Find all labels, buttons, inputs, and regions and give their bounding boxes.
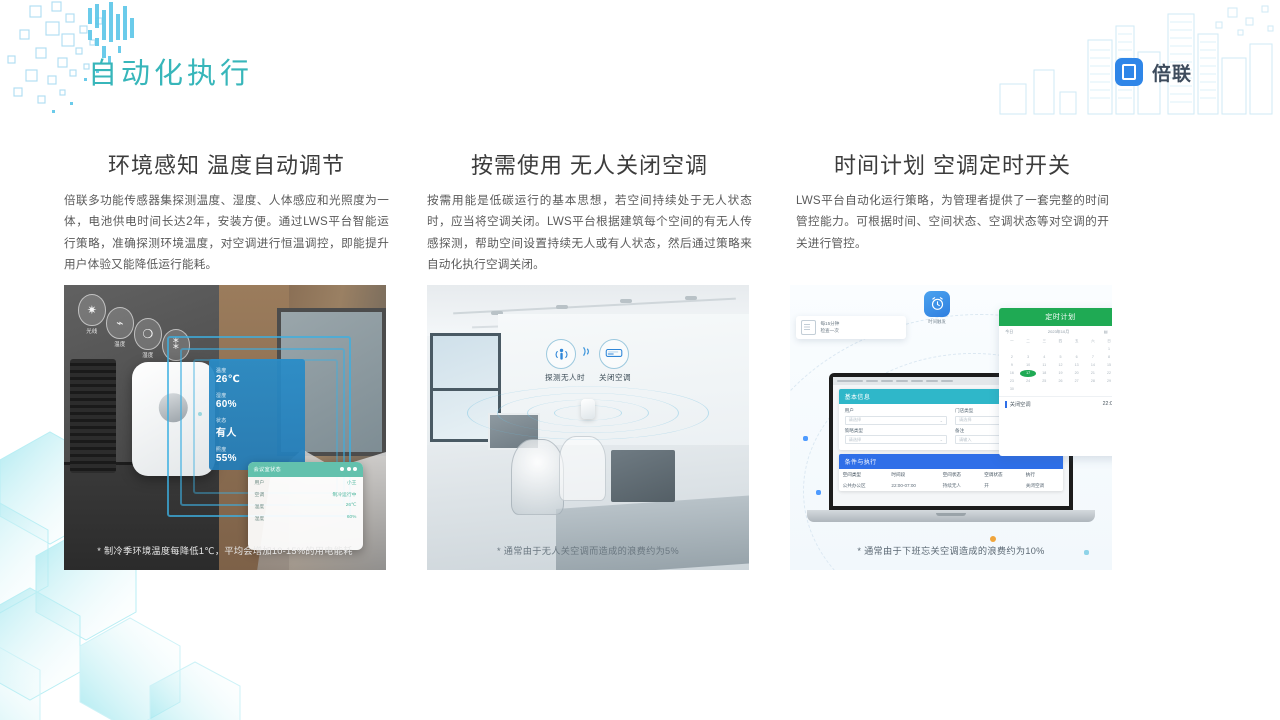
weekday-label: 三 — [1037, 338, 1052, 345]
column-title: 按需使用 无人关闭空调 — [427, 155, 752, 177]
calendar-day[interactable]: 15 — [1101, 362, 1112, 369]
humidity-sensor-icon: ❍ 湿度 — [133, 318, 163, 352]
entry-label: 关闭空调 — [1010, 401, 1031, 408]
alarm-clock-icon — [924, 291, 950, 317]
calendar-day[interactable]: 20 — [1069, 370, 1084, 377]
column-body: LWS平台自动化运行策略，为管理者提供了一套完整的时间管控能力。可根据时间、空间… — [790, 190, 1115, 254]
calendar-day[interactable]: 19 — [1053, 370, 1068, 377]
column-body: 按需用能是低碳运行的基本思想，若空间持续处于无人状态时，应当将空调关闭。LWS平… — [427, 190, 752, 276]
column-title: 时间计划 空调定时开关 — [790, 155, 1115, 177]
photo-caption: * 通常由于下班忘关空调造成的浪费约为10% — [790, 543, 1112, 557]
time-trigger-label: 时间触发 — [922, 319, 952, 325]
brand-name: 倍联 — [1152, 59, 1192, 86]
calendar-day[interactable]: 3 — [1020, 354, 1035, 361]
column-time-schedule: 时间计划 空调定时开关 LWS平台自动化运行策略，为管理者提供了一套完整的时间管… — [790, 155, 1115, 254]
calendar-day[interactable]: 25 — [1037, 378, 1052, 385]
document-search-icon — [801, 320, 816, 335]
calendar-day[interactable]: 6 — [1069, 354, 1084, 361]
calendar-day[interactable]: 26 — [1053, 378, 1068, 385]
weekday-label: 一 — [1004, 338, 1019, 345]
column-body: 倍联多功能传感器集探测温度、湿度、人体感应和光照度为一体，电池供电时间长达2年，… — [64, 190, 389, 276]
room-status-title: 会议室状态 — [254, 466, 281, 473]
decor-dot — [816, 490, 821, 495]
condition-table-title: 条件与执行 — [839, 454, 1064, 469]
field-strategy-type: 策略类型 请选择 ⌄ — [845, 428, 947, 445]
calendar-nav: 今日 2023年10月 ▤ ＋ — [999, 326, 1112, 338]
chevron-down-icon: ⌄ — [940, 418, 943, 423]
calendar-grid: 一 二 三 四 五 六 日 1 2 — [999, 338, 1112, 396]
calendar-day[interactable] — [1085, 346, 1100, 353]
check-interval-tooltip: 每15分钟 检查一次 — [796, 316, 905, 339]
weekday-label: 二 — [1020, 338, 1035, 345]
schedule-panel: 定时计划 今日 2023年10月 ▤ ＋ 一 二 三 四 — [999, 308, 1112, 456]
decor-dot — [803, 436, 808, 441]
photo-caption: * 通常由于无人关空调而造成的浪费约为5% — [427, 543, 749, 557]
time-trigger-badge: 时间触发 — [922, 291, 952, 325]
calendar-day[interactable]: 5 — [1053, 354, 1068, 361]
brand-logo: 倍联 — [1115, 58, 1192, 86]
calendar-day[interactable]: 10 — [1020, 362, 1035, 369]
calendar-day[interactable]: 8 — [1101, 354, 1112, 361]
calendar-day[interactable]: 11 — [1037, 362, 1052, 369]
calendar-day[interactable]: 14 — [1085, 362, 1100, 369]
user-select[interactable]: 请选择 ⌄ — [845, 416, 947, 425]
temperature-sensor-icon: ⌁ 温度 — [105, 307, 135, 341]
decor-dot — [990, 536, 996, 542]
window-mullion — [430, 388, 501, 391]
weekday-label: 日 — [1101, 338, 1112, 345]
calendar-today-button[interactable]: 今日 — [1005, 329, 1013, 335]
laptop-base — [807, 510, 1096, 522]
condition-table: 空间类型 时间段 空间状态 空调状态 执行 公共办公区 22:00-07:00 — [839, 469, 1064, 491]
calendar-day[interactable] — [1069, 346, 1084, 353]
signal-wave-icon — [581, 344, 594, 364]
window-dots-icon — [340, 467, 357, 471]
page-title: 自动化执行 — [88, 50, 253, 92]
hud-label-shutdown: 关闭空调 — [599, 372, 631, 383]
calendar-day[interactable]: 18 — [1037, 370, 1052, 377]
calendar-month-label: 2023年10月 — [1048, 329, 1069, 335]
track-lamp — [685, 296, 697, 300]
schedule-title: 定时计划 — [999, 308, 1112, 326]
room-status-header: 会议室状态 — [248, 462, 364, 477]
calendar-day[interactable]: 22 — [1101, 370, 1112, 377]
photo-card-sensor: ✷ 光线 ⌁ 温度 ❍ 湿度 ⁑ 移动侦测 — [64, 285, 386, 570]
weekday-label: 四 — [1053, 338, 1068, 345]
square-logo-icon — [1115, 58, 1143, 86]
wall-vent — [70, 359, 115, 473]
ceiling-presence-sensor — [581, 399, 595, 419]
field-user: 用户 请选择 ⌄ — [845, 408, 947, 425]
calendar-day[interactable]: 29 — [1101, 378, 1112, 385]
track-lamp — [556, 305, 568, 309]
content-columns: 环境感知 温度自动调节 倍联多功能传感器集探测温度、湿度、人体感应和光照度为一体… — [0, 155, 1280, 585]
calendar-day[interactable]: 9 — [1004, 362, 1019, 369]
calendar-day[interactable]: 27 — [1069, 378, 1084, 385]
calendar-day[interactable]: 28 — [1085, 378, 1100, 385]
hud-group: 探测无人时 关闭空调 — [545, 339, 631, 383]
calendar-day[interactable] — [1053, 346, 1068, 353]
table-row: 公共办公区 22:00-07:00 持续无人 开 关闭空调 — [839, 480, 1064, 491]
entry-time: 22:00 — [1103, 401, 1112, 407]
tooltip-text: 每15分钟 检查一次 — [820, 321, 839, 335]
column-title: 环境感知 温度自动调节 — [64, 155, 389, 177]
calendar-day[interactable]: 4 — [1037, 354, 1052, 361]
photo-card-office: 探测无人时 关闭空调 * 通常由于无人关空调而造成的浪费约为5% — [427, 285, 749, 570]
calendar-day[interactable]: 2 — [1004, 354, 1019, 361]
room-status-row: 用户 小王 — [248, 477, 364, 489]
room-status-row: 空调 制冷运行中 — [248, 489, 364, 501]
calendar-day[interactable]: 16 — [1004, 370, 1019, 377]
photo-card-dashboard: 每15分钟 检查一次 时间触发 — [790, 285, 1112, 570]
entry-accent-bar — [1005, 401, 1007, 408]
calendar-day[interactable]: 23 — [1004, 378, 1019, 385]
calendar-day[interactable] — [1037, 346, 1052, 353]
slide-header: 自动化执行 倍联 — [0, 0, 1280, 130]
mesh-chair — [511, 439, 565, 515]
hud-label-detect: 探测无人时 — [545, 372, 585, 383]
calendar-day-selected[interactable]: 17 — [1020, 370, 1035, 377]
slide-root: 自动化执行 倍联 环境感知 温度自动调节 倍联多功能传感器集探测温度、湿度、人体… — [0, 0, 1280, 720]
column-on-demand-use: 按需使用 无人关闭空调 按需用能是低碳运行的基本思想，若空间持续处于无人状态时，… — [427, 155, 752, 276]
presence-detect-icon — [546, 339, 576, 369]
laptop-notch — [936, 513, 965, 516]
chevron-down-icon: ⌄ — [940, 437, 943, 442]
calendar-day[interactable]: 12 — [1053, 362, 1068, 369]
calendar-day[interactable]: 7 — [1085, 354, 1100, 361]
track-lamp — [620, 299, 632, 303]
calendar-day[interactable]: 30 — [1004, 386, 1019, 393]
calendar-day[interactable] — [1004, 346, 1019, 353]
sensor-readout-card: 温度 26℃ 湿度 60% 状态 有人 照度 55% — [209, 359, 306, 470]
condition-execution-panel: 条件与执行 空间类型 时间段 空间状态 空调状态 执行 — [839, 454, 1064, 491]
air-conditioner-icon — [599, 339, 629, 369]
column-environment-sensing: 环境感知 温度自动调节 倍联多功能传感器集探测温度、湿度、人体感应和光照度为一体… — [64, 155, 389, 276]
table-header-row: 空间类型 时间段 空间状态 空调状态 执行 — [839, 469, 1064, 480]
desk-front — [556, 495, 749, 570]
list-icon[interactable]: ▤ — [1104, 329, 1108, 335]
calendar-day[interactable]: 24 — [1020, 378, 1035, 385]
strategy-type-select[interactable]: 请选择 ⌄ — [845, 435, 947, 444]
monitor-right — [611, 450, 675, 501]
photo-caption: * 制冷季环境温度每降低1℃，平均会增加10-15%的用电能耗 — [64, 543, 386, 557]
room-status-card: 会议室状态 用户 小王 空调 制冷运行中 温度 26℃ — [248, 462, 364, 550]
mesh-chair — [559, 436, 606, 501]
schedule-entry[interactable]: 关闭空调 22:00 — [999, 396, 1112, 412]
calendar-day[interactable]: 21 — [1085, 370, 1100, 377]
light-sensor-icon: ✷ 光线 — [77, 294, 107, 328]
calendar-day[interactable]: 13 — [1069, 362, 1084, 369]
room-status-row: 湿度 60% — [248, 513, 364, 525]
weekday-label: 五 — [1069, 338, 1084, 345]
room-status-row: 温度 26℃ — [248, 501, 364, 513]
hud-labels: 探测无人时 关闭空调 — [545, 372, 631, 383]
calendar-day[interactable]: 1 — [1101, 346, 1112, 353]
calendar-day[interactable] — [1020, 346, 1035, 353]
weekday-label: 六 — [1085, 338, 1100, 345]
